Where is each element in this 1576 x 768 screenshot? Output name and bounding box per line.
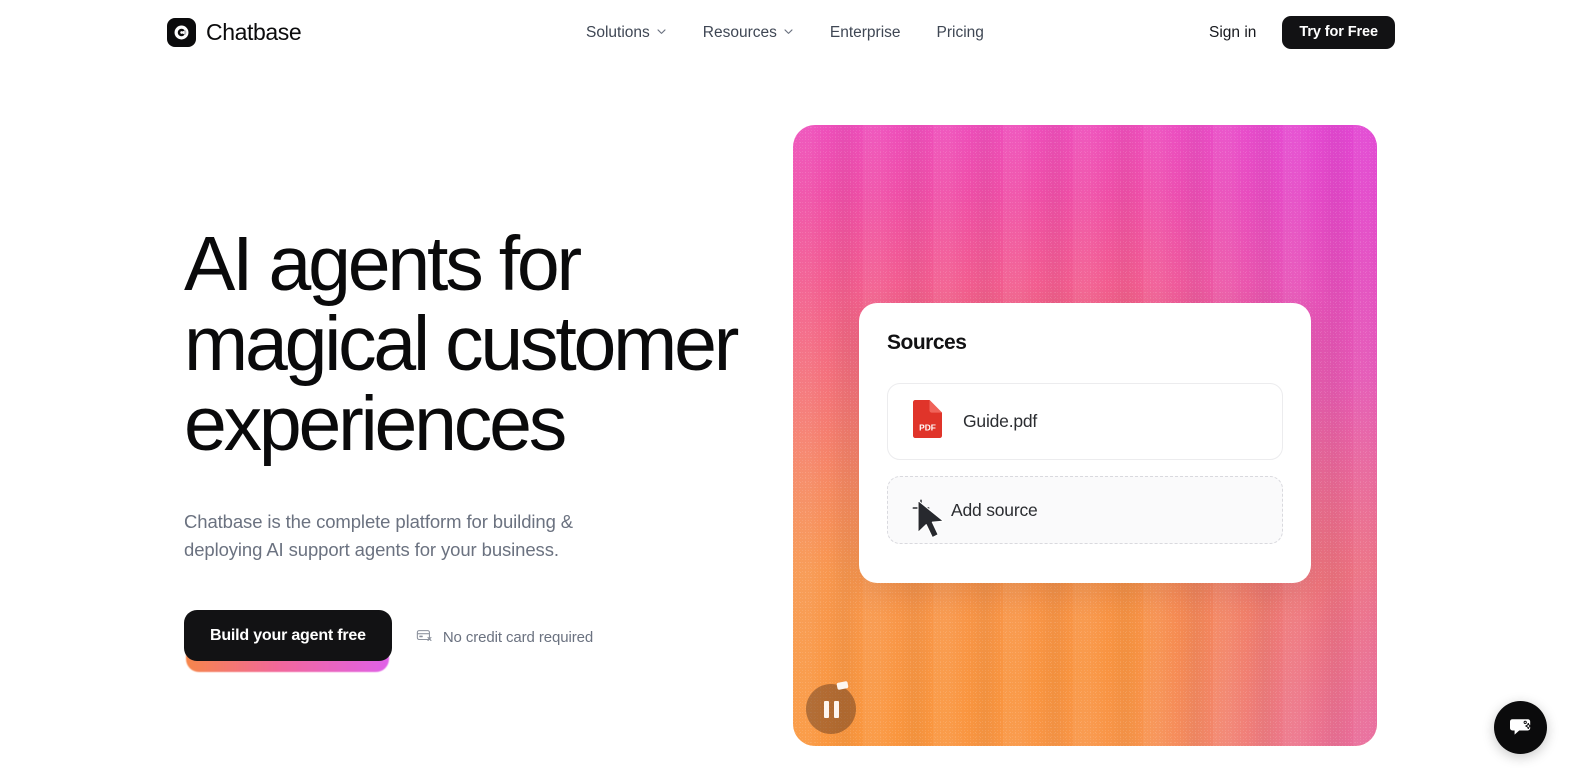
pause-icon	[824, 701, 829, 718]
chatbase-logo-icon	[167, 18, 196, 47]
add-source-label: Add source	[951, 500, 1038, 521]
sign-in-link[interactable]: Sign in	[1209, 16, 1256, 49]
chevron-down-icon	[656, 21, 667, 44]
hero-gradient-panel: Sources PDF Guide.pdf Add sour	[793, 125, 1377, 746]
source-list-item-guide-pdf[interactable]: PDF Guide.pdf	[887, 383, 1283, 460]
brand-logo[interactable]: Chatbase	[167, 18, 301, 47]
hero-content: AI agents for magical customer experienc…	[184, 224, 784, 661]
no-credit-card-note: No credit card required	[416, 627, 593, 648]
page-title: AI agents for magical customer experienc…	[184, 224, 784, 464]
brand-name: Chatbase	[206, 19, 301, 46]
pdf-file-icon: PDF	[910, 399, 944, 444]
nav-item-enterprise[interactable]: Enterprise	[830, 21, 901, 44]
hero-cta-row: Build your agent free No credit card req…	[184, 610, 784, 661]
credit-card-off-icon	[416, 627, 433, 648]
add-source-button[interactable]: Add source	[887, 476, 1283, 544]
sources-card-title: Sources	[887, 330, 1283, 356]
nav-item-pricing[interactable]: Pricing	[937, 21, 984, 44]
svg-text:PDF: PDF	[919, 423, 936, 433]
pause-button[interactable]	[806, 684, 856, 734]
build-agent-button[interactable]: Build your agent free	[184, 610, 392, 661]
nav-label-pricing: Pricing	[937, 21, 984, 44]
nav-item-solutions[interactable]: Solutions	[586, 21, 667, 44]
try-for-free-button[interactable]: Try for Free	[1282, 16, 1395, 49]
nav-label-resources: Resources	[703, 21, 777, 44]
site-header: Chatbase Solutions Resources	[0, 0, 1576, 66]
nav-label-solutions: Solutions	[586, 21, 650, 44]
pause-icon	[834, 701, 839, 718]
header-actions: Sign in Try for Free	[1209, 16, 1395, 49]
sources-card: Sources PDF Guide.pdf Add sour	[859, 303, 1311, 583]
landing-page: Chatbase Solutions Resources	[0, 0, 1576, 768]
chat-widget-button[interactable]	[1494, 701, 1547, 754]
chevron-down-icon	[783, 21, 794, 44]
nav-item-resources[interactable]: Resources	[703, 21, 794, 44]
nav-label-enterprise: Enterprise	[830, 21, 901, 44]
hero-subheadline: Chatbase is the complete platform for bu…	[184, 508, 654, 564]
cta-wrapper: Build your agent free	[184, 610, 392, 661]
chat-sparkle-icon	[1506, 711, 1536, 744]
source-file-name: Guide.pdf	[963, 411, 1037, 432]
plus-icon	[910, 497, 932, 524]
main-nav: Solutions Resources Enterprise	[586, 21, 984, 44]
no-credit-card-label: No credit card required	[443, 629, 593, 646]
pause-button-nub	[836, 681, 848, 690]
